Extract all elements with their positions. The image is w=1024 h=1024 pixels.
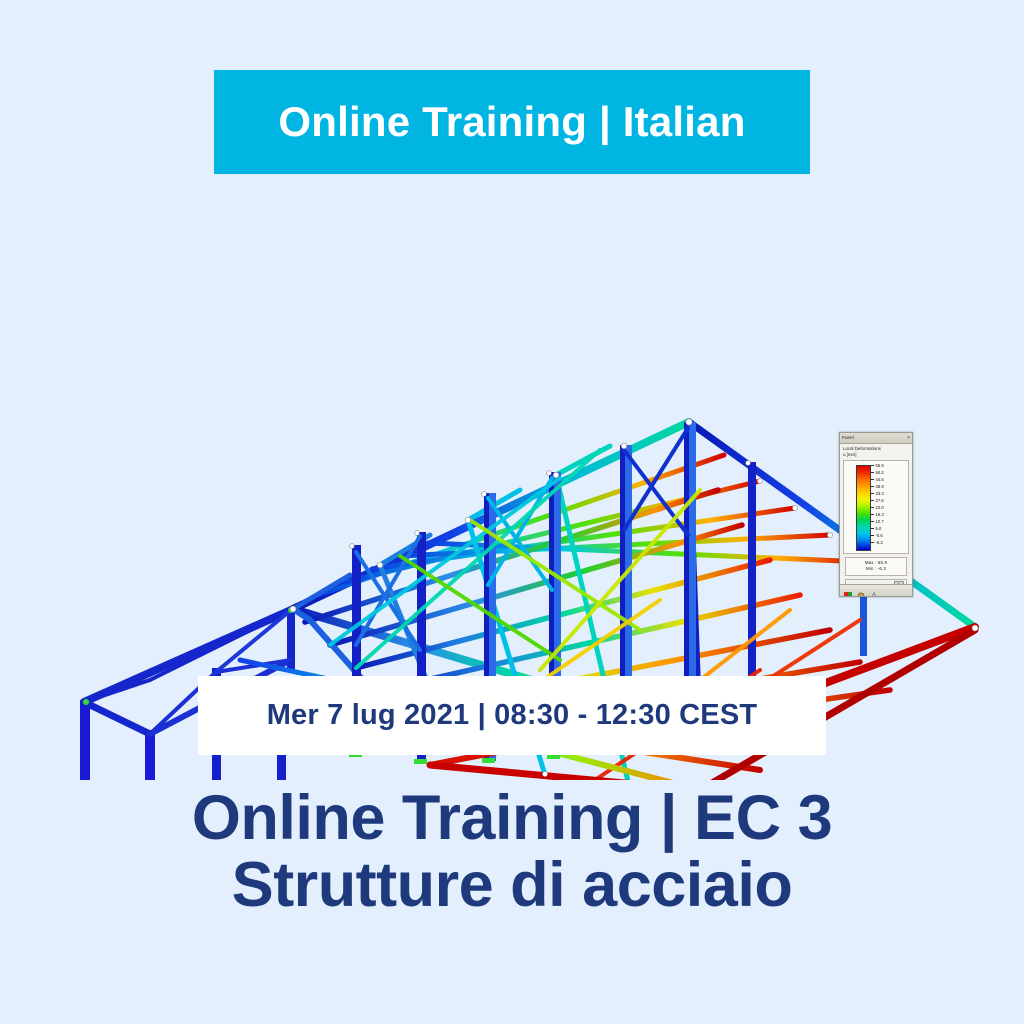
legend-tick: 22.0 xyxy=(871,505,884,511)
top-banner: Online Training | Italian xyxy=(214,70,810,174)
panel-max-value: 55.9 xyxy=(878,560,887,565)
panel-min-value: -6.3 xyxy=(878,566,886,571)
legend-tick: 10.7 xyxy=(871,519,884,525)
legend-tick: 16.3 xyxy=(871,512,884,518)
panel-title: Panel xyxy=(842,436,854,441)
panel-min-label: Min : xyxy=(866,566,876,571)
close-icon[interactable]: × xyxy=(907,436,910,441)
date-banner: Mer 7 lug 2021 | 08:30 - 12:30 CEST xyxy=(198,676,826,755)
date-banner-label: Mer 7 lug 2021 | 08:30 - 12:30 CEST xyxy=(267,699,758,732)
legend-color-bar xyxy=(856,465,871,551)
legend-tick: -6.3 xyxy=(871,540,883,546)
legend-tick: 38.9 xyxy=(871,484,884,490)
color-legend: 55.9 50.2 44.6 38.9 33.3 27.6 22.0 16.3 … xyxy=(843,460,909,554)
panel-titlebar[interactable]: Panel × xyxy=(840,433,912,444)
far-slope-purlins xyxy=(318,455,865,595)
legend-tick: 33.3 xyxy=(871,491,884,497)
panel-footer xyxy=(840,584,912,596)
legend-tick: -0.6 xyxy=(871,533,883,539)
print-icon[interactable] xyxy=(870,587,878,595)
page-title-line1: Online Training | EC 3 xyxy=(192,783,832,853)
page-title: Online Training | EC 3 Strutture di acci… xyxy=(0,785,1024,920)
render-icon[interactable] xyxy=(857,587,865,595)
top-banner-label: Online Training | Italian xyxy=(278,101,745,143)
legend-tick: 55.9 xyxy=(871,463,884,469)
panel-unit-label: u [mm] xyxy=(843,452,909,458)
poster-canvas: Online Training | Italian xyxy=(0,0,1024,1024)
legend-tick: 44.6 xyxy=(871,477,884,483)
legend-tick: 50.2 xyxy=(871,470,884,476)
legend-tick: 5.0 xyxy=(871,526,881,532)
panel-body: Local Deformations u [mm] 55.9 50.2 44.6… xyxy=(840,444,912,592)
colors-icon[interactable] xyxy=(844,587,852,595)
page-title-line2: Strutture di acciaio xyxy=(0,852,1024,919)
legend-tick: 27.6 xyxy=(871,498,884,504)
panel-minmax: Max : 55.9 Min : -6.3 xyxy=(845,557,907,576)
panel-min-row: Min : -6.3 xyxy=(846,566,906,572)
legend-ticks: 55.9 50.2 44.6 38.9 33.3 27.6 22.0 16.3 … xyxy=(871,461,913,553)
results-panel[interactable]: Panel × Local Deformations u [mm] 55.9 5… xyxy=(839,432,913,597)
panel-max-label: Max : xyxy=(865,560,877,565)
